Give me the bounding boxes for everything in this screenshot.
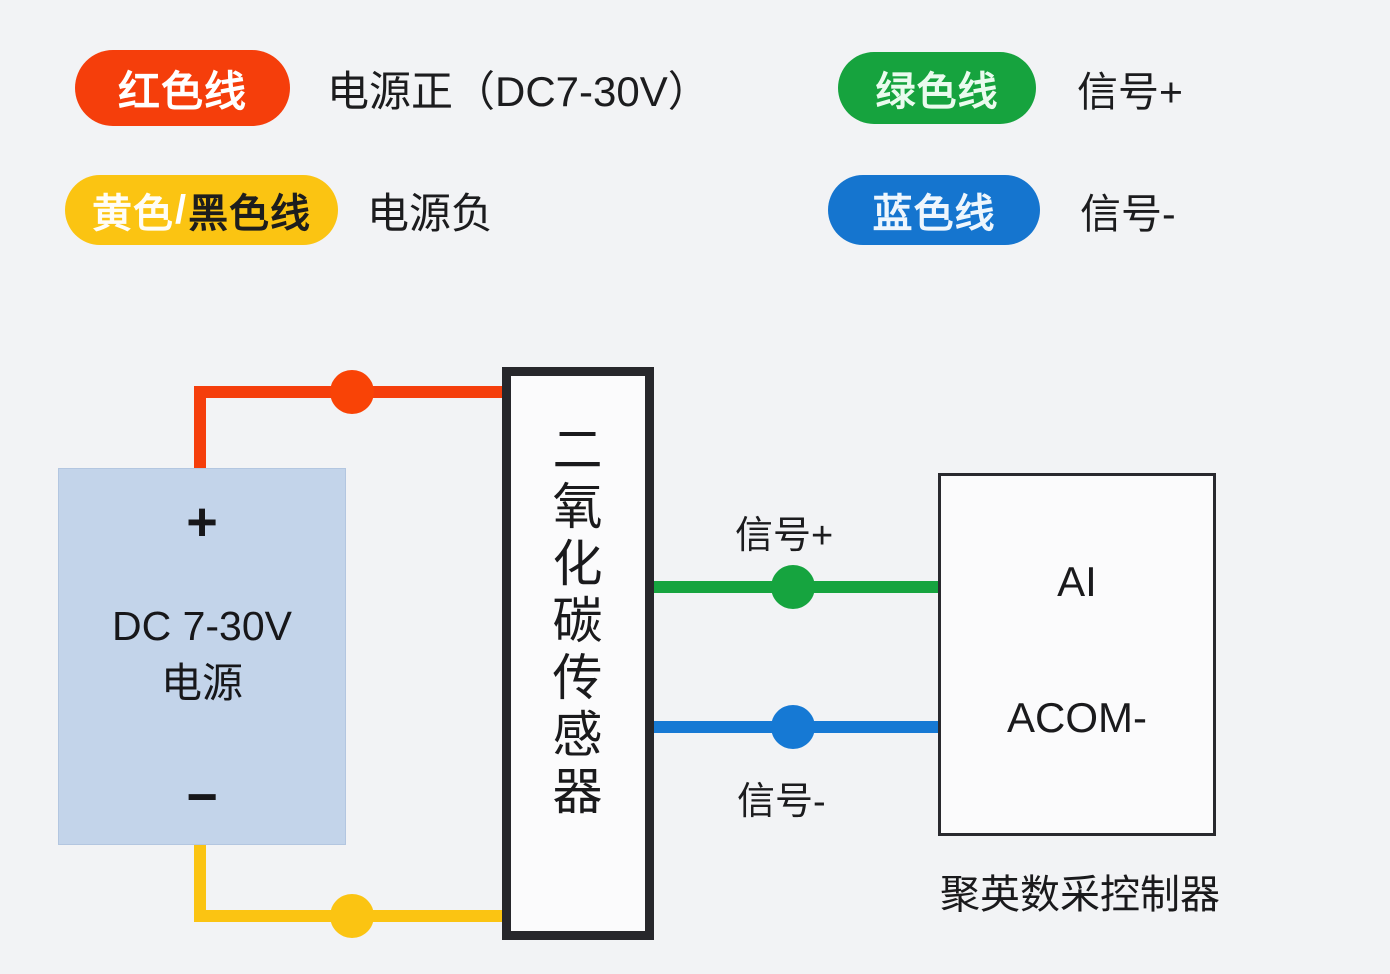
power-supply-voltage-label: DC 7-30V <box>59 599 345 654</box>
legend-item-yellow-black: 黄色/黑色线 电源负 <box>65 175 493 245</box>
legend-item-red: 红色线 电源正（DC7-30V） <box>75 50 710 126</box>
power-supply-minus-terminal: − <box>59 770 345 824</box>
controller-caption: 聚英数采控制器 <box>905 862 1255 920</box>
sensor-label-char: 器 <box>511 764 645 821</box>
controller-terminal-ai: AI <box>941 558 1213 606</box>
legend-badge-red-wire: 红色线 <box>75 50 290 126</box>
sensor-label-char: 化 <box>511 536 645 593</box>
legend-description-yellow-black-wire: 电源负 <box>367 180 493 241</box>
legend-description-blue-wire: 信号- <box>1080 180 1176 240</box>
sensor-label-char: 感 <box>511 707 645 764</box>
sensor-label-char: 碳 <box>511 593 645 650</box>
wire-node-signal-positive <box>771 565 815 609</box>
power-supply-box: + DC 7-30V 电源 − <box>58 468 346 845</box>
wire-node-power-negative <box>330 894 374 938</box>
legend-description-green-wire: 信号+ <box>1077 58 1183 118</box>
controller-terminal-acom: ACOM- <box>941 694 1213 742</box>
power-supply-name-label: 电源 <box>59 654 345 713</box>
power-supply-label: DC 7-30V 电源 <box>59 599 345 714</box>
wire-label-signal-negative: 信号- <box>737 770 826 825</box>
wire-node-signal-negative <box>771 705 815 749</box>
legend-badge-yellow-black-wire: 黄色/黑色线 <box>65 175 338 245</box>
power-supply-plus-terminal: + <box>59 495 345 549</box>
legend-description-red-wire: 电源正（DC7-30V） <box>327 58 710 119</box>
legend-badge-separator: / <box>174 188 188 233</box>
co2-sensor-box: 二 氧 化 碳 传 感 器 <box>502 367 654 940</box>
sensor-label-char: 传 <box>511 650 645 707</box>
legend-badge-green-wire: 绿色线 <box>838 52 1036 124</box>
legend-badge-blue-wire: 蓝色线 <box>828 175 1040 245</box>
sensor-label-char: 氧 <box>511 479 645 536</box>
data-acquisition-controller-box: AI ACOM- <box>938 473 1216 836</box>
legend-item-blue: 蓝色线 信号- <box>828 175 1176 245</box>
wire-node-power-positive <box>330 370 374 414</box>
co2-sensor-label: 二 氧 化 碳 传 感 器 <box>511 422 645 821</box>
legend-badge-yellow-part: 黄色 <box>92 181 174 239</box>
legend-item-green: 绿色线 信号+ <box>838 52 1183 124</box>
sensor-label-char: 二 <box>511 422 645 479</box>
wire-label-signal-positive: 信号+ <box>735 504 833 559</box>
legend-badge-black-part: 黑色线 <box>188 181 311 239</box>
diagram-canvas: 红色线 电源正（DC7-30V） 黄色/黑色线 电源负 绿色线 信号+ 蓝色线 … <box>0 0 1390 974</box>
